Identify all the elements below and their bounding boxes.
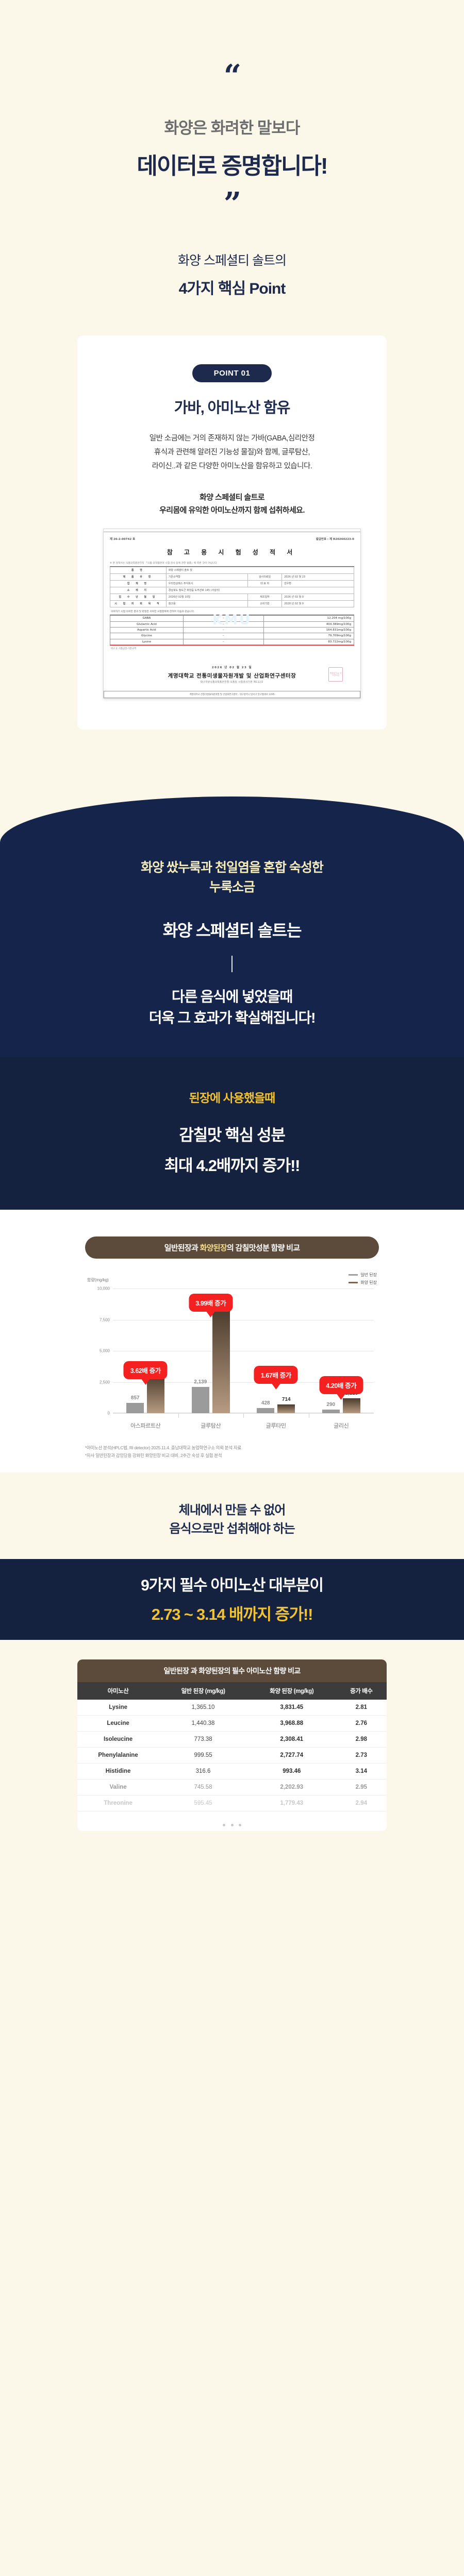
cert-row-value2: 2026 년 02 월 23	[282, 573, 354, 580]
amino-cell-normal: 999.55	[159, 1748, 247, 1764]
table-header-row: 아미노산 일반 된장 (mg/kg) 화양 된장 (mg/kg) 증가 배수	[77, 1682, 387, 1700]
chart-card: 일반된장과 화양된장의 감칠맛성분 함량 비교 함량(mg/kg) 일반 된장 …	[85, 1236, 379, 1434]
table-row: 시 험 의 뢰 목 적 참고용 소비기한 2028 년 02 월 0	[110, 600, 354, 607]
point-01-body-line-3: 라이신..과 같은 다양한 아미노산을 함유하고 있습니다.	[98, 460, 366, 473]
table-row: Lysine1,365.103,831.452.81	[77, 1700, 387, 1716]
cert-row-label: 제 품 유 형	[110, 573, 167, 580]
point-01-card: POINT 01 가바, 아미노산 함유 일반 소금에는 거의 존재하지 않는 …	[77, 335, 387, 730]
chart-plot-area: 함량(mg/kg) 일반 된장 화양 된장 10,0007,5005,0002,…	[85, 1279, 379, 1434]
bar-value-label: 290	[326, 1402, 335, 1408]
navy-doenjang-section: 된장에 사용했을때 감칠맛 핵심 성분 최대 4.2배까지 증가!!	[0, 1057, 464, 1210]
amino-cell-name: Histidine	[77, 1764, 159, 1780]
col-header-hwayang: 화양 된장 (mg/kg)	[247, 1682, 336, 1700]
amino-cell-hwa: 2,202.93	[247, 1780, 336, 1795]
result-std: –	[183, 616, 263, 621]
amino-cell-mult: 2.95	[336, 1780, 387, 1795]
cert-row-label2: 제조일자	[247, 594, 281, 600]
cert-mid-note: 의뢰하기 시험 의뢰한 결과 및 판정은 의뢰한 시험항목에 한하여 다음과 같…	[110, 607, 354, 615]
amino-table-section: 일반된장 과 화양된장의 필수 아미노산 함량 비교 아미노산 일반 된장 (m…	[0, 1640, 464, 1860]
cert-organization-sub: 대구지방식품의약품안전청 식품등 시험검사기관 제112호	[110, 681, 354, 684]
cert-row-label2: 소비기한	[247, 600, 281, 607]
y-tick-label: 7,500	[87, 1317, 110, 1322]
col-header-normal: 일반 된장 (mg/kg)	[159, 1682, 247, 1700]
chart-bar-group: 8573,1043.62배 증가	[113, 1289, 178, 1413]
navy-gold-line-1: 화양 쌌누룩과 천일염을 혼합 숙성한	[0, 858, 464, 878]
cert-row-value2: 안우환	[282, 580, 354, 587]
table-row: Aspartic Acid – 164.831mg/100g	[110, 627, 354, 633]
amino-cell-hwa: 3,968.88	[247, 1716, 336, 1732]
point-01-note: 화양 스페셜티 솔트로 우리몸에 유익한 아미노산까지 함께 섭취하세요.	[98, 492, 366, 517]
amino-cell-normal: 773.38	[159, 1732, 247, 1748]
amino-cell-hwa: 993.46	[247, 1764, 336, 1780]
amino-cell-hwa: 1,779.43	[247, 1795, 336, 1811]
amino-table-title: 일반된장 과 화양된장의 필수 아미노산 함량 비교	[77, 1659, 387, 1682]
chart-bar-group: 2,1398,5283.99배 증가	[178, 1289, 244, 1413]
chart-title-suffix: 의 감칠맛성분 함량 비교	[227, 1244, 300, 1252]
cert-date: 2026 년 02 월 23 일	[110, 665, 354, 669]
table-row: Isoleucine773.382,308.412.98	[77, 1732, 387, 1748]
cert-row-value: 우리한상에스 주식회사	[166, 580, 247, 587]
navy-product-title: 화양 스페셜티 솔트는	[0, 918, 464, 941]
y-tick-label: 10,000	[87, 1286, 110, 1291]
legend-item-hwayang: 화양 된장	[349, 1280, 377, 1285]
cert-top-edge	[104, 531, 360, 533]
chart-y-axis-label: 함량(mg/kg)	[87, 1277, 109, 1283]
table-row: 제 품 유 형 기준규격형 검사의뢰일 2026 년 02 월 23	[110, 573, 354, 580]
table-row: 소 재 지 경상북도 청도군 화양읍 도주관로 145 (서상리)	[110, 587, 354, 594]
chart-bar-groups: 8573,1043.62배 증가2,1398,5283.99배 증가428714…	[113, 1289, 374, 1413]
cert-row-label: 소 재 지	[110, 587, 167, 594]
result-name: Glycine	[110, 633, 184, 639]
point-01-body: 일반 소금에는 거의 존재하지 않는 가바(GABA,심리안정 휴식과 관련해 …	[98, 432, 366, 473]
cert-issue-no: 발급번호 : 제 R20260223-0	[316, 537, 354, 541]
dot-2	[231, 1824, 234, 1826]
chart-x-tick-labels: 아스파르트산글루탐산글루타민글리신	[113, 1421, 374, 1430]
bar-value-label: 714	[282, 1397, 291, 1402]
result-name: Lysine	[110, 639, 184, 645]
bar-value-label: 428	[261, 1400, 270, 1406]
y-tick-label: 0	[87, 1411, 110, 1416]
chart-bar: 857	[126, 1403, 144, 1414]
amino-cell-normal: 1,365.10	[159, 1700, 247, 1716]
table-row: Leucine1,440.383,968.882.76	[77, 1716, 387, 1732]
table-row: Lysine – 83.722mg/100g	[110, 639, 354, 645]
amino-table-card: 일반된장 과 화양된장의 필수 아미노산 함량 비교 아미노산 일반 된장 (m…	[77, 1659, 387, 1831]
bar-value-label: 857	[131, 1395, 140, 1401]
x-tick-mark	[178, 1414, 179, 1418]
cert-row-value: 화양 스페셜티 솔트 쌌	[166, 567, 354, 573]
cert-foot-note: 비고 2: 식품공전-기준규격	[110, 646, 354, 652]
x-tick-mark	[243, 1414, 244, 1418]
cert-row-label: 시 험 의 뢰 목 적	[110, 600, 167, 607]
amino-cell-mult: 2.81	[336, 1700, 387, 1716]
point-01-note-line-1: 화양 스페셜티 솔트로	[98, 492, 366, 504]
result-std: –	[183, 627, 263, 633]
amino-cell-hwa: 2,727.74	[247, 1748, 336, 1764]
point-01-title: 가바, 아미노산 함유	[98, 396, 366, 417]
table-row: Glycine – 79.709mg/100g	[110, 633, 354, 639]
cert-bottom-bar: 계명대학교 전통미생물자원개발 및 산업화연구센터 · 대구광역시 달서구 달구…	[104, 691, 360, 698]
chart-footnote-1: *아미노산 분석(HPLC법, Ri detector) 2025.11.4. …	[85, 1444, 379, 1451]
cert-organization: 계명대학교 전통미생물자원개발 및 산업화연구센터장	[110, 672, 354, 680]
cert-row-value2: 2026 년 02 월 0	[282, 594, 354, 600]
chart-footnotes: *아미노산 분석(HPLC법, Ri detector) 2025.11.4. …	[85, 1444, 379, 1459]
dot-3	[239, 1824, 241, 1826]
table-row: Histidine316.6993.463.14	[77, 1764, 387, 1780]
chart-bars-plot: 10,0007,5005,0002,50008573,1043.62배 증가2,…	[113, 1289, 374, 1413]
doenjang-gold-label: 된장에 사용했을때	[0, 1088, 464, 1106]
cert-disclaimer: ※ 본 성적서는 식품의약품안전처 「식품·의약품분야 시험·검사 등에 관한 …	[110, 562, 354, 567]
point-01-note-line-2: 우리몸에 유익한 아미노산까지 함께 섭취하세요.	[98, 504, 366, 517]
amino-cell-name: Lysine	[77, 1700, 159, 1716]
amino-cell-name: Leucine	[77, 1716, 159, 1732]
point-01-body-line-2: 휴식과 관련해 알려진 기능성 물질)와 함께, 글루탐산,	[98, 446, 366, 460]
point-01-body-line-1: 일반 소금에는 거의 존재하지 않는 가바(GABA,심리안정	[98, 432, 366, 446]
amino-cell-hwa: 3,831.45	[247, 1700, 336, 1716]
chart-bar: 2,139	[192, 1387, 209, 1414]
y-tick-label: 5,000	[87, 1349, 110, 1353]
result-name: Glutamic Acid	[110, 621, 184, 627]
chart-bar: 3,104	[147, 1375, 164, 1413]
chart-increase-callout: 3.99배 증가	[189, 1294, 233, 1312]
table-row: 접 수 년 월 일 2026년 02월 10일 제조일자 2026 년 02 월…	[110, 594, 354, 600]
test-certificate-image: KMU 제 26-2-00742 호 발급번호 : 제 R20260223-0 …	[103, 529, 361, 699]
cert-row-value: 기준규격형	[166, 573, 247, 580]
amino-intro-line-2: 음식으로만 섭취해야 하는	[0, 1520, 464, 1538]
navy-feature-section: 화양 쌌누룩과 천일염을 혼합 숙성한 누룩소금 화양 스페셜티 솔트는 다른 …	[0, 796, 464, 1057]
amino-cell-name: Valine	[77, 1780, 159, 1795]
result-std: –	[183, 621, 263, 627]
x-tick-mark	[309, 1414, 309, 1418]
legend-item-normal: 일반 된장	[349, 1272, 377, 1278]
table-row: Threonine595.451,779.432.94	[77, 1795, 387, 1811]
x-tick-label: 아스파르트산	[113, 1421, 178, 1430]
amino-highlight-band: 9가지 필수 아미노산 대부분이 2.73 ~ 3.14 배까지 증가!!	[0, 1559, 464, 1640]
cert-row-value: 2026년 02월 10일	[166, 594, 247, 600]
result-std: –	[183, 633, 263, 639]
result-name: Aspartic Acid	[110, 627, 184, 633]
navy-divider	[231, 956, 233, 972]
cert-row-label2: 검사의뢰일	[247, 573, 281, 580]
amino-cell-name: Threonine	[77, 1795, 159, 1811]
result-name: GABA	[110, 616, 184, 621]
amino-table-body: Lysine1,365.103,831.452.81Leucine1,440.3…	[77, 1700, 387, 1811]
cert-header: 제 26-2-00742 호 발급번호 : 제 R20260223-0	[110, 537, 354, 541]
cert-row-value: 참고용	[166, 600, 247, 607]
result-value: 83.722mg/100g	[263, 639, 354, 645]
chart-bar: 290	[322, 1410, 340, 1413]
amino-cell-name: Phenylalanine	[77, 1748, 159, 1764]
hero-line-1: 화양은 화려한 말보다	[0, 115, 464, 138]
quote-open-icon: “	[0, 67, 464, 86]
col-header-amino: 아미노산	[77, 1682, 159, 1700]
amino-cell-mult: 2.94	[336, 1795, 387, 1811]
table-row: 품 명 화양 스페셜티 솔트 쌌	[110, 567, 354, 573]
x-tick-label: 글루탐산	[178, 1421, 244, 1430]
hero-subtitle-2: 4가지 핵심 Point	[0, 276, 464, 298]
chart-title-prefix: 일반된장과	[164, 1244, 200, 1252]
col-header-mult: 증가 배수	[336, 1682, 387, 1700]
amino-intro-line-1: 체내에서 만들 수 없어	[0, 1501, 464, 1520]
chart-bar: 1,215	[343, 1398, 360, 1413]
doenjang-headline-1: 감칠맛 핵심 성분	[0, 1122, 464, 1145]
chart-bar-group: 2901,2154.20배 증가	[309, 1289, 374, 1413]
table-row: Phenylalanine999.552,727.742.73	[77, 1748, 387, 1764]
cert-info-table: 품 명 화양 스페셜티 솔트 쌌 제 품 유 형 기준규격형 검사의뢰일 202…	[110, 567, 354, 607]
legend-swatch-normal	[349, 1274, 358, 1276]
amino-cell-hwa: 2,308.41	[247, 1732, 336, 1748]
cert-signature-block: 2026 년 02 월 23 일 계명대학교 전통미생물자원개발 및 산업화연구…	[110, 665, 354, 684]
chart-bar: 714	[277, 1404, 295, 1413]
legend-swatch-hwayang	[349, 1282, 358, 1283]
table-row: GABA – 12.204 mg/100g	[110, 616, 354, 621]
amino-intro-section: 체내에서 만들 수 없어 음식으로만 섭취해야 하는	[0, 1472, 464, 1544]
bar-value-label: 2,139	[194, 1379, 207, 1385]
dot-1	[223, 1824, 225, 1826]
chart-increase-callout: 4.20배 증가	[319, 1376, 363, 1394]
result-value: 79.709mg/100g	[263, 633, 354, 639]
navy-gold-line-2: 누룩소금	[0, 878, 464, 897]
x-tick-label: 글리신	[309, 1421, 374, 1430]
amino-cell-mult: 2.98	[336, 1732, 387, 1748]
amino-cell-mult: 2.73	[336, 1748, 387, 1764]
amino-highlight-2: 2.73 ~ 3.14 배까지 증가!!	[0, 1601, 464, 1624]
amino-cell-mult: 2.76	[336, 1716, 387, 1732]
cert-row-value: 경상북도 청도군 화양읍 도주관로 145 (서상리)	[166, 587, 354, 594]
cert-row-value2: 2028 년 02 월 0	[282, 600, 354, 607]
landing-page: “ 화양은 화려한 말보다 데이터로 증명합니다! ” 화양 스페셜티 솔트의 …	[0, 0, 464, 1860]
chart-increase-callout: 1.67배 증가	[254, 1366, 298, 1384]
amino-highlight-1: 9가지 필수 아미노산 대부분이	[0, 1572, 464, 1595]
table-row: 업 체 명 우리한상에스 주식회사 대 표 자 안우환	[110, 580, 354, 587]
legend-label-normal: 일반 된장	[360, 1272, 377, 1278]
quote-close-icon: ”	[0, 195, 464, 213]
cert-row-label2: 대 표 자	[247, 580, 281, 587]
scroll-dots-indicator	[77, 1811, 387, 1831]
chart-increase-callout: 3.62배 증가	[124, 1361, 168, 1379]
result-value: 164.831mg/100g	[263, 627, 354, 633]
doenjang-headline-2: 최대 4.2배까지 증가!!	[0, 1153, 464, 1176]
result-value: 404.389mg/100g	[263, 621, 354, 627]
cert-results-table: GABA – 12.204 mg/100g Glutamic Acid – 40…	[110, 615, 354, 645]
point-01-badge: POINT 01	[192, 364, 272, 382]
chart-legend: 일반 된장 화양 된장	[349, 1272, 377, 1287]
amino-cell-normal: 595.45	[159, 1795, 247, 1811]
chart-footnote-2: *자사 일반된장과 감잉당용 강화된 화양된장 비교 대비, 2추간 숙성 후 …	[85, 1452, 379, 1459]
y-tick-label: 2,500	[87, 1380, 110, 1384]
hero-line-2: 데이터로 증명합니다!	[0, 147, 464, 180]
hero-subtitle-1: 화양 스페셜티 솔트의	[0, 250, 464, 269]
result-value: 12.204 mg/100g	[263, 616, 354, 621]
cert-doc-no: 제 26-2-00742 호	[110, 537, 135, 541]
navy-sub-line-2: 더욱 그 효과가 확실해집니다!	[0, 1008, 464, 1029]
navy-sub-line-1: 다른 음식에 넣었을때	[0, 987, 464, 1008]
amino-cell-mult: 3.14	[336, 1764, 387, 1780]
amino-comparison-table: 아미노산 일반 된장 (mg/kg) 화양 된장 (mg/kg) 증가 배수 L…	[77, 1682, 387, 1811]
chart-bar: 428	[257, 1408, 274, 1413]
cert-row-label: 업 체 명	[110, 580, 167, 587]
legend-label-hwayang: 화양 된장	[360, 1280, 377, 1285]
cert-stamp-seal: 계명대학교 연구센터장	[328, 667, 343, 682]
chart-bar-group: 4287141.67배 증가	[243, 1289, 309, 1413]
hero-section: “ 화양은 화려한 말보다 데이터로 증명합니다! ” 화양 스페셜티 솔트의 …	[0, 0, 464, 298]
chart-bar: 8,528	[212, 1307, 230, 1413]
table-row: Valine745.582,202.932.95	[77, 1780, 387, 1795]
amino-cell-normal: 316.6	[159, 1764, 247, 1780]
cert-row-label: 접 수 년 월 일	[110, 594, 167, 600]
x-tick-label: 글루타민	[243, 1421, 309, 1430]
amino-cell-name: Isoleucine	[77, 1732, 159, 1748]
chart-title-highlight: 화양된장	[200, 1244, 227, 1252]
amino-cell-normal: 745.58	[159, 1780, 247, 1795]
result-std: –	[183, 639, 263, 645]
chart-title-bar: 일반된장과 화양된장의 감칠맛성분 함량 비교	[85, 1236, 379, 1259]
table-row: Glutamic Acid – 404.389mg/100g	[110, 621, 354, 627]
cert-row-label: 품 명	[110, 567, 167, 573]
amino-cell-normal: 1,440.38	[159, 1716, 247, 1732]
umami-chart-section: 일반된장과 화양된장의 감칠맛성분 함량 비교 함량(mg/kg) 일반 된장 …	[0, 1210, 464, 1472]
cert-title: 참 고 용 시 험 성 적 서	[110, 548, 354, 556]
